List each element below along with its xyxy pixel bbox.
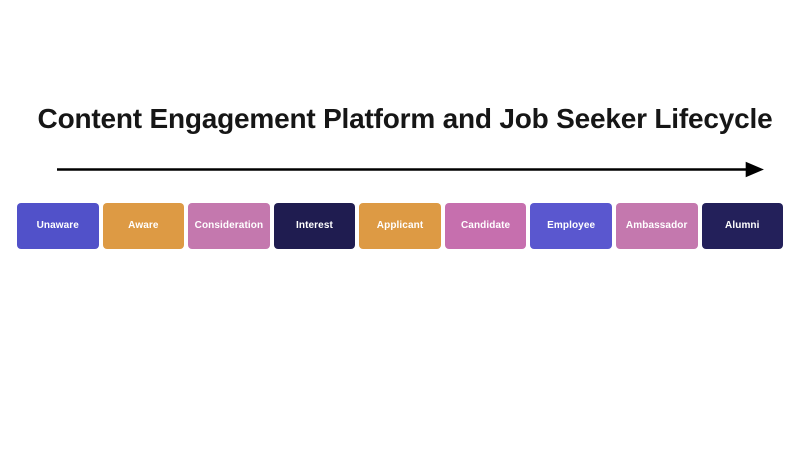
page-title: Content Engagement Platform and Job Seek… bbox=[0, 101, 810, 137]
stage-label-ambassador: Ambassador bbox=[624, 220, 690, 232]
progression-arrow bbox=[50, 156, 765, 184]
diagram-canvas: Content Engagement Platform and Job Seek… bbox=[0, 0, 810, 450]
stage-box-candidate[interactable]: Candidate bbox=[445, 203, 527, 249]
stage-label-aware: Aware bbox=[126, 220, 160, 232]
stage-box-consideration[interactable]: Consideration bbox=[188, 203, 270, 249]
stage-box-unaware[interactable]: Unaware bbox=[17, 203, 99, 249]
stage-label-unaware: Unaware bbox=[35, 220, 81, 232]
stage-box-applicant[interactable]: Applicant bbox=[359, 203, 441, 249]
stage-box-aware[interactable]: Aware bbox=[103, 203, 185, 249]
stage-label-alumni: Alumni bbox=[723, 220, 762, 232]
stage-label-candidate: Candidate bbox=[459, 220, 512, 232]
stage-label-interest: Interest bbox=[294, 220, 335, 232]
stage-box-employee[interactable]: Employee bbox=[530, 203, 612, 249]
stage-label-employee: Employee bbox=[545, 220, 597, 232]
stage-label-consideration: Consideration bbox=[193, 220, 266, 232]
stage-label-applicant: Applicant bbox=[375, 220, 425, 232]
stage-box-interest[interactable]: Interest bbox=[274, 203, 356, 249]
lifecycle-stage-row: Unaware Aware Consideration Interest App… bbox=[17, 203, 783, 249]
stage-box-ambassador[interactable]: Ambassador bbox=[616, 203, 698, 249]
stage-box-alumni[interactable]: Alumni bbox=[702, 203, 784, 249]
